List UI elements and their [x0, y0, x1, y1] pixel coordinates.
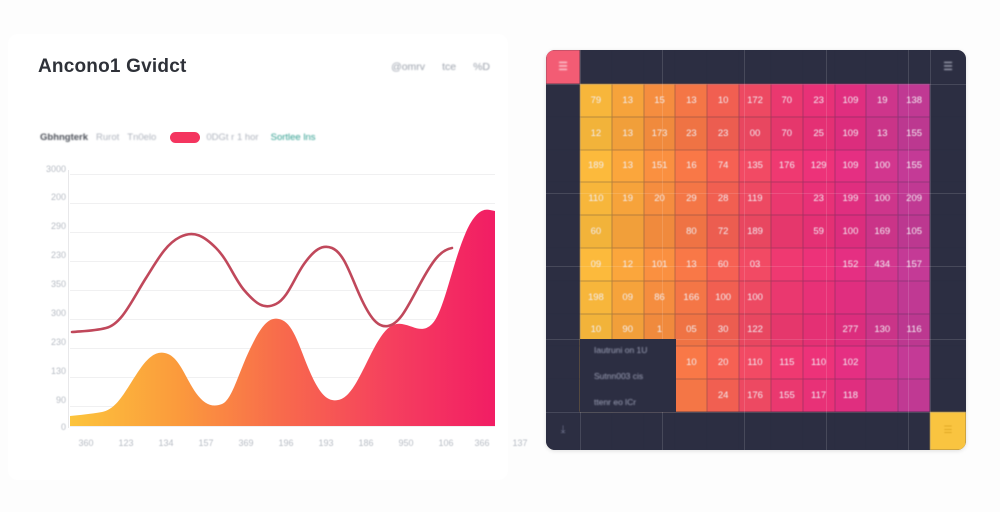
heatmap-cell: 109	[835, 117, 867, 150]
heatmap-tail-cell	[930, 182, 966, 215]
line-series-path	[72, 234, 452, 332]
heatmap-cell	[866, 281, 898, 314]
x-tick-8: 950	[398, 438, 413, 448]
x-tick-11: 137	[512, 438, 527, 448]
heatmap-footer-cell	[898, 412, 930, 450]
heatmap-cell	[771, 281, 803, 314]
heatmap-cell: 23	[803, 182, 835, 215]
heatmap-footer-cell	[771, 412, 803, 450]
heatmap-row-header	[546, 117, 580, 150]
heatmap-cell: 23	[675, 117, 707, 150]
heatmap-cell: 110	[739, 346, 771, 379]
heatmap-cell: 25	[803, 117, 835, 150]
legend-label-3: 0DGt r 1 hor	[206, 132, 258, 143]
heatmap-footer-cell	[675, 412, 707, 450]
heatmap-cell	[771, 248, 803, 281]
heatmap-header-cell	[707, 50, 739, 84]
heatmap-cell: 100	[866, 182, 898, 215]
heatmap-cell: 172	[739, 84, 771, 117]
heatmap-cell: 13	[612, 117, 644, 150]
y-tick-3: 230	[51, 337, 66, 347]
heatmap-cell: 198	[580, 281, 612, 314]
heatmap-cell: 60	[707, 248, 739, 281]
heatmap-cell	[771, 215, 803, 248]
heatmap-cell: 100	[739, 281, 771, 314]
x-tick-3: 157	[198, 438, 213, 448]
x-tick-5: 196	[278, 438, 293, 448]
x-tick-4: 369	[238, 438, 253, 448]
heatmap-footer-cell	[612, 412, 644, 450]
menu-icon[interactable]: ☰	[930, 50, 966, 84]
heatmap-tail-cell	[930, 314, 966, 347]
legend-label-0: Gbhngterk	[40, 132, 88, 143]
heatmap-cell: 70	[771, 84, 803, 117]
heatmap-header-cell	[644, 50, 676, 84]
heatmap-cell: 79	[580, 84, 612, 117]
heatmap-cell	[612, 215, 644, 248]
heatmap-header-cell	[580, 50, 612, 84]
heatmap-cell: 20	[644, 182, 676, 215]
heatmap-cell: 16	[675, 150, 707, 183]
legend-swatch-pink	[170, 132, 200, 143]
heatmap-tail-cell	[930, 117, 966, 150]
heatmap-cell: 59	[803, 215, 835, 248]
heatmap-cell: 09	[580, 248, 612, 281]
x-tick-7: 186	[358, 438, 373, 448]
heatmap-cell: 119	[739, 182, 771, 215]
heatmap-header-cell	[739, 50, 771, 84]
heatmap-cell: 173	[644, 117, 676, 150]
heatmap-cell	[675, 379, 707, 412]
heatmap-cell: 118	[835, 379, 867, 412]
heatmap-cell: 110	[580, 182, 612, 215]
heatmap-header-cell	[898, 50, 930, 84]
app-root: Ancono1 Gvidct @omrv tce %D Gbhngterk Ru…	[0, 0, 1000, 512]
heatmap-cell: 20	[707, 346, 739, 379]
download-icon[interactable]: ⤓	[546, 412, 580, 450]
x-tick-0: 360	[78, 438, 93, 448]
y-tick-4: 300	[51, 308, 66, 318]
y-tick-1: 90	[56, 395, 66, 405]
heatmap-footer-cell	[707, 412, 739, 450]
heatmap-cell: 209	[898, 182, 930, 215]
heatmap-cell: 12	[580, 117, 612, 150]
y-tick-6: 230	[51, 250, 66, 260]
heatmap-cell: 10	[675, 346, 707, 379]
heatmap-cell	[866, 346, 898, 379]
y-axis-labels: 3000 200 290 230 350 300 230 130 90 0	[26, 164, 66, 432]
y-tick-2: 130	[51, 366, 66, 376]
heatmap-cell: 110	[803, 346, 835, 379]
heatmap-cell	[898, 346, 930, 379]
page-title: Ancono1 Gvidct	[38, 56, 186, 78]
heatmap-row-label: Sutnn003 cis	[594, 371, 643, 381]
heatmap-cell: 30	[707, 314, 739, 347]
heatmap-cell: 176	[771, 150, 803, 183]
x-tick-1: 123	[118, 438, 133, 448]
heatmap-panel: ☰☰79131513101727023109191381213173232300…	[546, 50, 966, 450]
heatmap-cell: 24	[707, 379, 739, 412]
heatmap-footer-cell	[644, 412, 676, 450]
equals-icon[interactable]: ☰	[930, 412, 966, 450]
heatmap-cell: 13	[675, 248, 707, 281]
heatmap-tail-cell	[930, 346, 966, 379]
heatmap-cell: 100	[835, 215, 867, 248]
heatmap-cell: 100	[866, 150, 898, 183]
heatmap-cell: 117	[803, 379, 835, 412]
legend-label-4: Sortlee lns	[271, 132, 316, 143]
heatmap-cell: 86	[644, 281, 676, 314]
heatmap-cell	[898, 281, 930, 314]
chart-legend: Gbhngterk Rurot Tn0elo 0DGt r 1 hor Sort…	[40, 132, 316, 143]
heatmap-cell	[771, 182, 803, 215]
heatmap-cell: 13	[612, 150, 644, 183]
heatmap-cell: 101	[644, 248, 676, 281]
heatmap-cell: 13	[675, 84, 707, 117]
y-tick-7: 290	[51, 221, 66, 231]
heatmap-cell: 122	[739, 314, 771, 347]
heatmap-cell: 152	[835, 248, 867, 281]
heatmap-cell: 09	[612, 281, 644, 314]
heatmap-row-header	[546, 281, 580, 314]
heatmap-cell: 199	[835, 182, 867, 215]
heatmap-header-cell	[771, 50, 803, 84]
heatmap-cell: 29	[675, 182, 707, 215]
heatmap-cell: 72	[707, 215, 739, 248]
gridline	[70, 426, 495, 427]
x-tick-10: 366	[474, 438, 489, 448]
heatmap-cell	[803, 314, 835, 347]
heatmap-cell: 155	[771, 379, 803, 412]
legend-item-2[interactable]: Tn0elo	[127, 132, 156, 143]
layers-icon[interactable]: ☰	[546, 50, 580, 84]
heatmap-cell: 115	[771, 346, 803, 379]
heatmap-footer-cell	[739, 412, 771, 450]
heatmap-cell: 15	[644, 84, 676, 117]
heatmap-cell	[835, 281, 867, 314]
chart-panel: Ancono1 Gvidct @omrv tce %D Gbhngterk Ru…	[8, 34, 508, 480]
heatmap-cell: 100	[707, 281, 739, 314]
heatmap-cell: 434	[866, 248, 898, 281]
heatmap-cell: 05	[675, 314, 707, 347]
header-tool-3[interactable]: %D	[473, 61, 490, 73]
heatmap-row-header	[546, 182, 580, 215]
heatmap-header-cell	[612, 50, 644, 84]
heatmap-cell: 74	[707, 150, 739, 183]
heatmap-tail-cell	[930, 84, 966, 117]
heatmap-row-label: Iautruni on 1U	[594, 345, 647, 355]
heatmap-cell: 19	[866, 84, 898, 117]
heatmap-row-header	[546, 84, 580, 117]
heatmap-cell: 155	[898, 150, 930, 183]
heatmap-cell: 23	[707, 117, 739, 150]
heatmap-cell: 23	[803, 84, 835, 117]
heatmap-cell	[803, 281, 835, 314]
heatmap-header-cell	[803, 50, 835, 84]
heatmap-cell	[898, 379, 930, 412]
heatmap-cell: 102	[835, 346, 867, 379]
legend-item-1[interactable]: Rurot	[96, 132, 119, 143]
heatmap-row-header	[546, 346, 580, 379]
heatmap-footer-cell	[835, 412, 867, 450]
heatmap-cell: 105	[898, 215, 930, 248]
heatmap-cell: 116	[898, 314, 930, 347]
chart-svg	[70, 174, 495, 426]
x-axis-labels: 360 123 134 157 369 196 193 186 950 106 …	[64, 438, 504, 454]
heatmap-cell: 189	[580, 150, 612, 183]
heatmap-cell	[771, 314, 803, 347]
heatmap-row-header	[546, 379, 580, 412]
legend-label-2: Tn0elo	[127, 132, 156, 143]
heatmap-cell: 109	[835, 150, 867, 183]
heatmap-cell: 109	[835, 84, 867, 117]
heatmap-tail-cell	[930, 150, 966, 183]
plot-area	[70, 174, 495, 426]
heatmap-cell: 03	[739, 248, 771, 281]
heatmap-cell: 13	[866, 117, 898, 150]
heatmap-cell	[866, 379, 898, 412]
heatmap-cell: 13	[612, 84, 644, 117]
heatmap-header-cell	[866, 50, 898, 84]
heatmap-cell: 166	[675, 281, 707, 314]
heatmap-cell: 10	[707, 84, 739, 117]
heatmap-cell: 277	[835, 314, 867, 347]
heatmap-cell: 60	[580, 215, 612, 248]
heatmap-cell: 155	[898, 117, 930, 150]
heatmap-tail-cell	[930, 281, 966, 314]
legend-item-3[interactable]: 0DGt r 1 hor	[170, 132, 258, 143]
heatmap-header-cell	[675, 50, 707, 84]
x-tick-2: 134	[158, 438, 173, 448]
heatmap-cell: 28	[707, 182, 739, 215]
heatmap-tail-cell	[930, 248, 966, 281]
legend-item-4[interactable]: Sortlee lns	[271, 132, 316, 143]
heatmap-row-label-block: Iautruni on 1USutnn003 cisttenr eo lCr	[580, 339, 676, 412]
heatmap-cell: 129	[803, 150, 835, 183]
heatmap-cell: 176	[739, 379, 771, 412]
legend-label-1: Rurot	[96, 132, 119, 143]
heatmap-footer-cell	[803, 412, 835, 450]
x-tick-6: 193	[318, 438, 333, 448]
heatmap-cell: 157	[898, 248, 930, 281]
y-tick-8: 200	[51, 192, 66, 202]
heatmap-cell: 135	[739, 150, 771, 183]
heatmap-cell: 12	[612, 248, 644, 281]
heatmap-cell: 80	[675, 215, 707, 248]
header-tool-2[interactable]: tce	[442, 61, 456, 73]
y-tick-5: 350	[51, 279, 66, 289]
y-axis-line	[68, 170, 69, 428]
heatmap-cell: 70	[771, 117, 803, 150]
heatmap-cell: 169	[866, 215, 898, 248]
heatmap-header-cell	[835, 50, 867, 84]
legend-item-0[interactable]: Gbhngterk	[40, 132, 88, 143]
chart-header-tools: @omrv tce %D	[391, 61, 490, 73]
heatmap-cell: 00	[739, 117, 771, 150]
heatmap-cell	[644, 215, 676, 248]
heatmap-cell	[803, 248, 835, 281]
heatmap-row-header	[546, 248, 580, 281]
heatmap-tail-cell	[930, 215, 966, 248]
heatmap-row-label: ttenr eo lCr	[594, 397, 636, 407]
header-tool-1[interactable]: @omrv	[391, 61, 425, 73]
heatmap-row-header	[546, 314, 580, 347]
heatmap-cell: 189	[739, 215, 771, 248]
heatmap-cell: 138	[898, 84, 930, 117]
heatmap-footer-cell	[866, 412, 898, 450]
heatmap-row-header	[546, 215, 580, 248]
heatmap-row-header	[546, 150, 580, 183]
y-tick-9: 3000	[46, 164, 66, 174]
heatmap-cell: 19	[612, 182, 644, 215]
y-tick-0: 0	[61, 422, 66, 432]
area-series-path	[70, 210, 495, 426]
heatmap-footer-cell	[580, 412, 612, 450]
heatmap-tail-cell	[930, 379, 966, 412]
heatmap-cell: 130	[866, 314, 898, 347]
heatmap-cell: 151	[644, 150, 676, 183]
x-tick-9: 106	[438, 438, 453, 448]
